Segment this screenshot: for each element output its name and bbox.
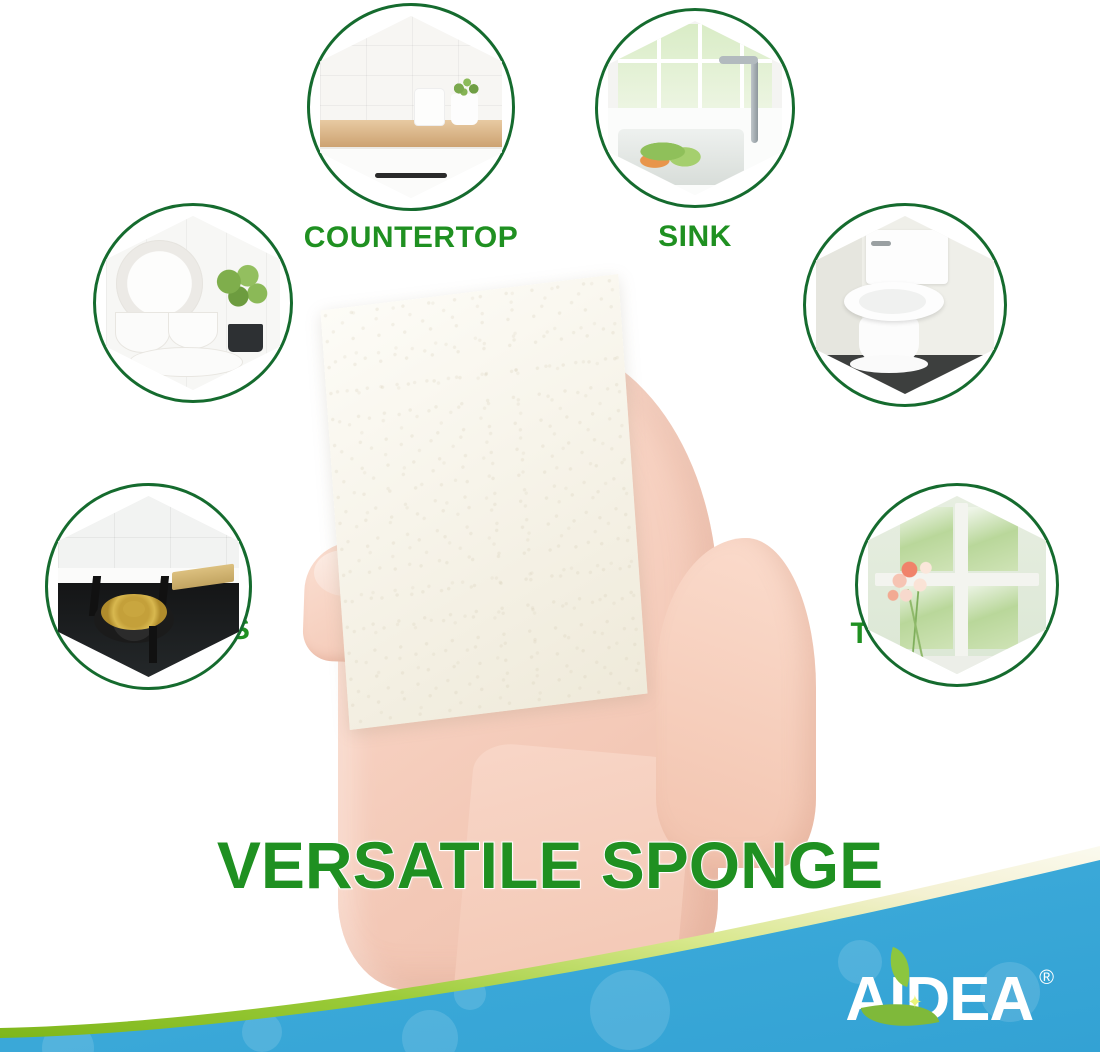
feature-label-countertop: COUNTERTOP [304, 221, 518, 255]
sparkle-icon: ✦ [907, 994, 923, 1010]
bottom-wave-banner: AIDEA ✦ ® [0, 842, 1100, 1052]
feature-badge-sink: SINK [595, 8, 795, 208]
feature-label-sink: SINK [658, 220, 732, 254]
product-infographic: COUNTERTOP SINK [0, 0, 1100, 1052]
sponge-product [320, 274, 647, 730]
brand-name: AIDEA [845, 964, 1033, 1036]
feature-badge-countertop: COUNTERTOP [307, 3, 515, 211]
thumb [656, 538, 816, 868]
registered-trademark-icon: ® [1039, 966, 1054, 990]
brand-logo: AIDEA ✦ ® [845, 964, 1054, 1036]
feature-badge-toilet: TOILET [803, 203, 1007, 407]
feature-badge-stove: STOVE [45, 483, 252, 690]
feature-badge-dishes: DISHES [93, 203, 293, 403]
feature-badge-window: WINDOW [855, 483, 1059, 687]
